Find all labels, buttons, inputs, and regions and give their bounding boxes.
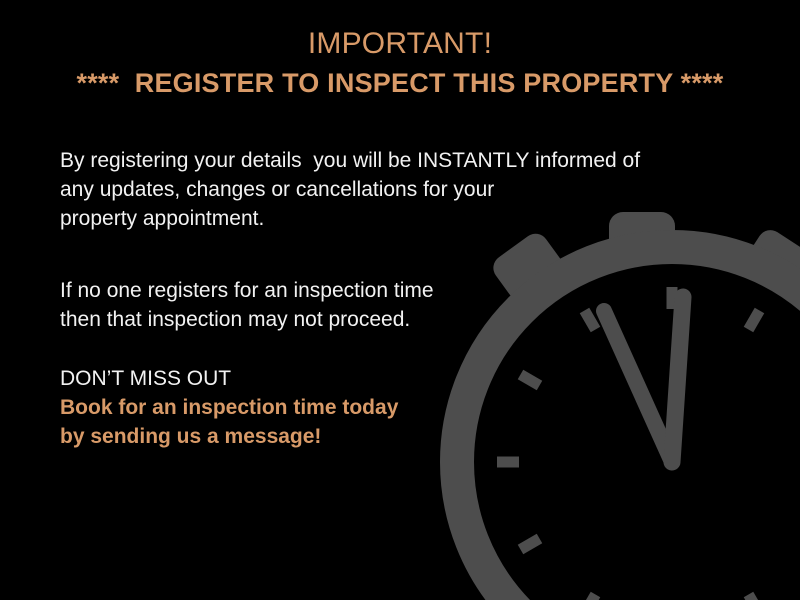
text-layer: IMPORTANT! **** REGISTER TO INSPECT THIS… xyxy=(0,0,800,600)
paragraph-2-line-2: then that inspection may not proceed. xyxy=(60,305,720,334)
paragraph-1-line-3: property appointment. xyxy=(60,204,720,233)
headline-important: IMPORTANT! xyxy=(0,26,800,62)
paragraph-2-line-1: If no one registers for an inspection ti… xyxy=(60,276,720,305)
cta-send-message: by sending us a message! xyxy=(60,422,720,451)
paragraph-registering-details: By registering your details you will be … xyxy=(60,146,720,233)
paragraph-1-line-1: By registering your details you will be … xyxy=(60,146,720,175)
slide-canvas: IMPORTANT! **** REGISTER TO INSPECT THIS… xyxy=(0,0,800,600)
headline-register-to-inspect: **** REGISTER TO INSPECT THIS PROPERTY *… xyxy=(0,66,800,100)
cta-book-inspection: Book for an inspection time today xyxy=(60,393,720,422)
paragraph-1-line-2: any updates, changes or cancellations fo… xyxy=(60,175,720,204)
paragraph-call-to-action: DON’T MISS OUT Book for an inspection ti… xyxy=(60,364,720,451)
headline-block: IMPORTANT! **** REGISTER TO INSPECT THIS… xyxy=(0,26,800,100)
paragraph-no-registration-warning: If no one registers for an inspection ti… xyxy=(60,276,720,334)
cta-dont-miss-out: DON’T MISS OUT xyxy=(60,364,720,393)
